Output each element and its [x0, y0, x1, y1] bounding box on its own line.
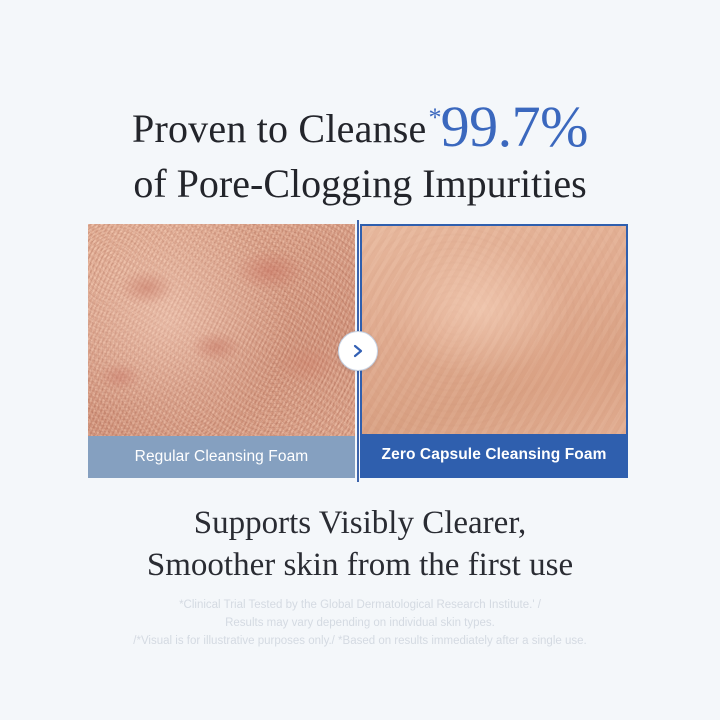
panel-label-after: Zero Capsule Cleansing Foam	[362, 434, 626, 476]
headline-stat-value: 99.7%	[441, 94, 588, 159]
headline-lead-text: Proven to Cleanse	[132, 106, 426, 151]
disclaimer-line-3: /*Visual is for illustrative purposes on…	[0, 632, 720, 650]
skin-image-before	[88, 224, 355, 436]
disclaimer-line-1: *Clinical Trial Tested by the Global Der…	[0, 596, 720, 614]
comparison-panel-after: Zero Capsule Cleansing Foam	[360, 224, 628, 478]
disclaimer-block: *Clinical Trial Tested by the Global Der…	[0, 596, 720, 650]
headline-line-1: Proven to Cleanse*99.7%	[0, 92, 720, 155]
skin-image-after	[362, 226, 626, 434]
tagline-line-2: Smoother skin from the first use	[0, 544, 720, 586]
headline-line-2: of Pore-Clogging Impurities	[0, 159, 720, 209]
before-after-comparison: Regular Cleansing Foam Zero Capsule Clea…	[88, 224, 628, 478]
panel-label-before: Regular Cleansing Foam	[88, 436, 355, 478]
comparison-panel-before: Regular Cleansing Foam	[88, 224, 355, 478]
tagline-line-1: Supports Visibly Clearer,	[0, 502, 720, 544]
headline-block: Proven to Cleanse*99.7% of Pore-Clogging…	[0, 92, 720, 209]
promo-page: Proven to Cleanse*99.7% of Pore-Clogging…	[0, 0, 720, 720]
disclaimer-line-2: Results may vary depending on individual…	[0, 614, 720, 632]
tagline-block: Supports Visibly Clearer, Smoother skin …	[0, 502, 720, 586]
chevron-right-icon	[338, 331, 378, 371]
